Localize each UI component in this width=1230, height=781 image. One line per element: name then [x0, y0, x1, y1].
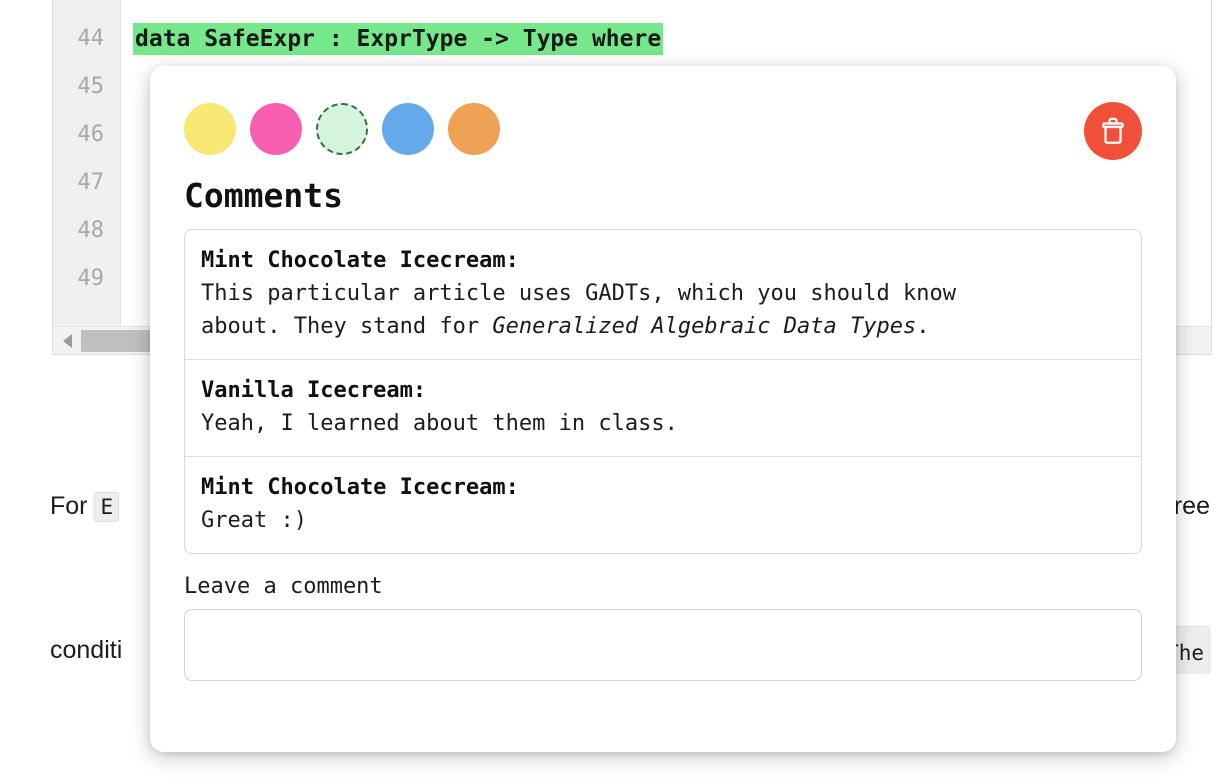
comment-body: Great :): [201, 504, 1125, 537]
color-swatch-yellow[interactable]: [184, 103, 236, 155]
comment-body: This particular article uses GADTs, whic…: [201, 277, 1125, 343]
chevron-left-icon[interactable]: [53, 327, 81, 355]
line-number: 43: [53, 0, 120, 15]
line-number: 48: [53, 207, 120, 255]
prose-line: more so v: [50, 770, 1210, 781]
color-swatch-orange[interactable]: [448, 103, 500, 155]
trash-icon: [1099, 116, 1127, 146]
prose-text: conditi: [50, 636, 122, 664]
line-number: 46: [53, 111, 120, 159]
comment-author: Mint Chocolate Icecream:: [201, 244, 1125, 277]
leave-comment-label: Leave a comment: [184, 574, 1142, 599]
prose-fragment-right: so v: [1164, 770, 1210, 781]
color-swatch-pink[interactable]: [250, 103, 302, 155]
comments-list: Mint Chocolate Icecream: This particular…: [184, 229, 1142, 554]
comments-modal: Comments Mint Chocolate Icecream: This p…: [150, 66, 1176, 752]
prose-fragment-right: ree: [1174, 482, 1210, 530]
line-number: 44: [53, 15, 120, 63]
comment-text-italic: Generalized Algebraic Data Types: [492, 314, 916, 339]
color-swatch-mint-selected[interactable]: [316, 103, 368, 155]
code-text: data SafeExpr : ExprType -> Type where: [133, 23, 663, 55]
comment-item: Mint Chocolate Icecream: Great :): [185, 457, 1141, 553]
comment-author: Vanilla Icecream:: [201, 374, 1125, 407]
code-line-highlighted: data SafeExpr : ExprType -> Type where: [133, 15, 1211, 63]
comment-item: Mint Chocolate Icecream: This particular…: [185, 230, 1141, 360]
comment-author: Mint Chocolate Icecream:: [201, 471, 1125, 504]
comment-item: Vanilla Icecream: Yeah, I learned about …: [185, 360, 1141, 457]
inline-code-chip: E: [94, 492, 119, 522]
comment-input[interactable]: [184, 609, 1142, 681]
code-line: [133, 0, 1211, 15]
line-number: 47: [53, 159, 120, 207]
color-swatch-blue[interactable]: [382, 103, 434, 155]
line-number: 45: [53, 63, 120, 111]
prose-text: For: [50, 492, 94, 520]
comment-text-tail: .: [916, 314, 929, 339]
swatch-row: [184, 96, 1142, 162]
comment-body: Yeah, I learned about them in class.: [201, 407, 1125, 440]
screen: 43 44 45 46 47 48 49 data SafeExpr : Exp…: [0, 0, 1230, 781]
line-number-gutter: 43 44 45 46 47 48 49: [53, 0, 121, 326]
comments-heading: Comments: [184, 176, 1142, 215]
line-number: 49: [53, 255, 120, 303]
delete-button[interactable]: [1084, 102, 1142, 160]
